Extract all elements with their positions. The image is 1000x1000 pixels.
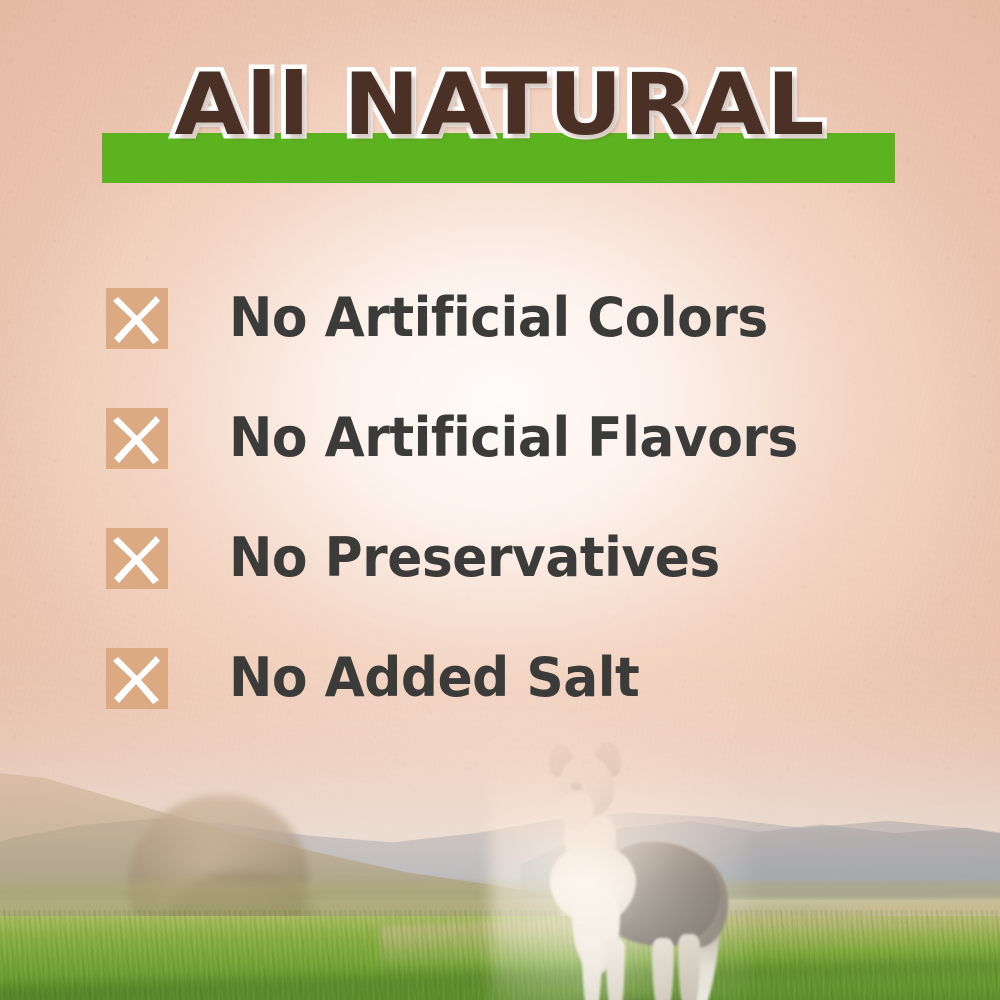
feature-list: No Artificial Colors No Artificial Flavo…: [106, 258, 926, 738]
x-mark-icon: [106, 528, 168, 589]
list-item: No Added Salt: [106, 618, 926, 738]
x-mark-icon: [106, 288, 168, 349]
border-collie-dog: [520, 748, 720, 1000]
list-item: No Artificial Flavors: [106, 378, 926, 498]
list-item: No Artificial Colors: [106, 258, 926, 378]
x-mark-icon: [106, 648, 168, 709]
list-item-label: No Preservatives: [229, 529, 720, 587]
all-natural-poster: All NATURAL No Artificial Colors No Arti…: [0, 0, 1000, 1000]
list-item-label: No Added Salt: [229, 649, 639, 707]
list-item-label: No Artificial Flavors: [229, 409, 798, 467]
list-item: No Preservatives: [106, 498, 926, 618]
page-title: All NATURAL: [0, 62, 1000, 148]
x-mark-icon: [106, 408, 168, 469]
dog-sun-glow: [490, 724, 750, 1000]
list-item-label: No Artificial Colors: [229, 289, 768, 347]
